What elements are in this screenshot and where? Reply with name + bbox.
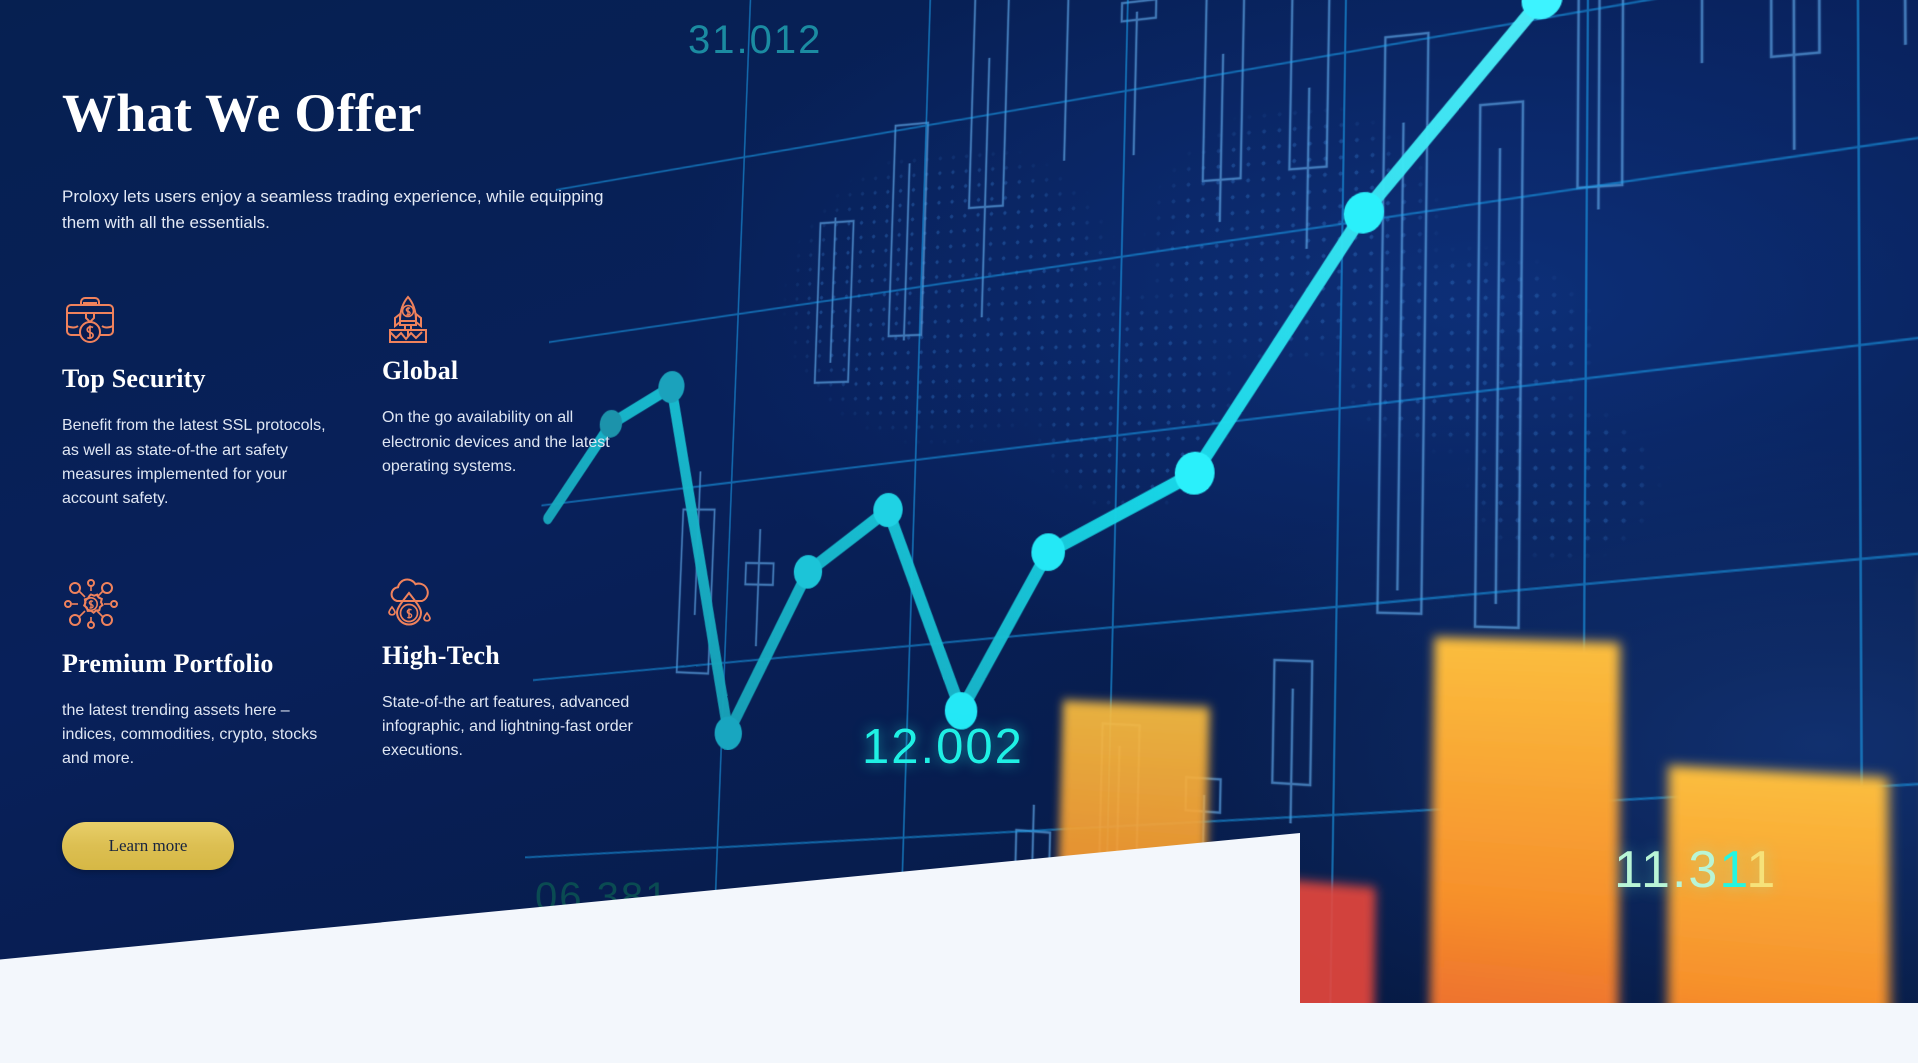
feature-body: State-of-the art features, advanced info…: [382, 691, 637, 764]
briefcase-dollar-icon: [62, 284, 342, 346]
feature-body: On the go availability on all electronic…: [382, 406, 637, 479]
feature-title: Top Security: [62, 364, 342, 394]
feature-body: the latest trending assets here – indice…: [62, 699, 332, 772]
feature-card-premium-portfolio: Premium Portfolio the latest trending as…: [62, 569, 382, 772]
feature-card-global: Global On the go availability on all ele…: [382, 284, 702, 511]
feature-body: Benefit from the latest SSL protocols, a…: [62, 414, 332, 511]
features-grid: Top Security Benefit from the latest SSL…: [62, 284, 720, 771]
hero-content: What We Offer Proloxy lets users enjoy a…: [0, 0, 720, 870]
feature-card-high-tech: High-Tech State-of-the art features, adv…: [382, 569, 702, 772]
learn-more-button[interactable]: Learn more: [62, 822, 234, 870]
bottom-price-label: 11.311: [1614, 840, 1777, 900]
feature-title: Global: [382, 356, 662, 386]
feature-card-top-security: Top Security Benefit from the latest SSL…: [62, 284, 382, 511]
white-bottom-strip: [0, 1003, 1918, 1063]
hero-intro-text: Proloxy lets users enjoy a seamless trad…: [62, 184, 607, 237]
feature-title: High-Tech: [382, 641, 662, 671]
network-gear-dollar-icon: [62, 569, 342, 631]
rocket-launch-dollar-icon: [382, 284, 662, 346]
feature-title: Premium Portfolio: [62, 649, 342, 679]
mid-price-label: 12.002: [862, 719, 1024, 775]
page-title: What We Offer: [62, 85, 720, 142]
cloud-rain-dollar-icon: [382, 569, 662, 631]
